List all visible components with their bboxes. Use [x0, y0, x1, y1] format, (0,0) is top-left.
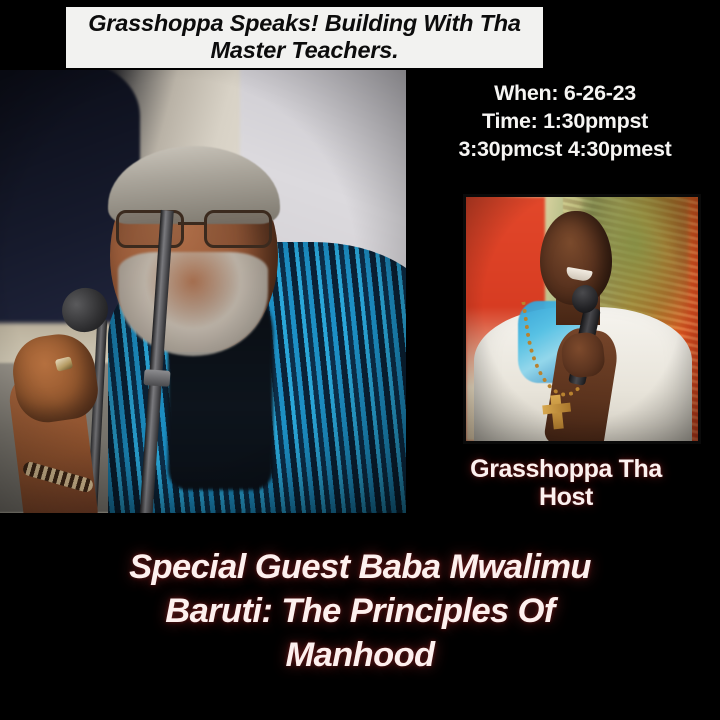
headline-text: Special Guest Baba Mwalimu Baruti: The P…: [20, 546, 700, 677]
schedule-time: Time: 1:30pmpst: [416, 108, 714, 136]
schedule-when: When: 6-26-23: [416, 80, 714, 108]
title-text: Grasshoppa Speaks! Building With Tha Mas…: [88, 10, 521, 65]
schedule-block: When: 6-26-23 Time: 1:30pmpst 3:30pmcst …: [416, 80, 714, 164]
photo-vignette: [0, 70, 406, 513]
main-speaker-photo: [0, 70, 406, 513]
host-photo-vignette: [466, 197, 698, 441]
host-photo: [463, 194, 701, 444]
host-caption: Grasshoppa Tha Host: [420, 455, 712, 511]
title-banner: Grasshoppa Speaks! Building With Tha Mas…: [66, 7, 543, 68]
schedule-time-alt: 3:30pmcst 4:30pmest: [416, 136, 714, 164]
event-flyer: Grasshoppa Speaks! Building With Tha Mas…: [0, 0, 720, 720]
